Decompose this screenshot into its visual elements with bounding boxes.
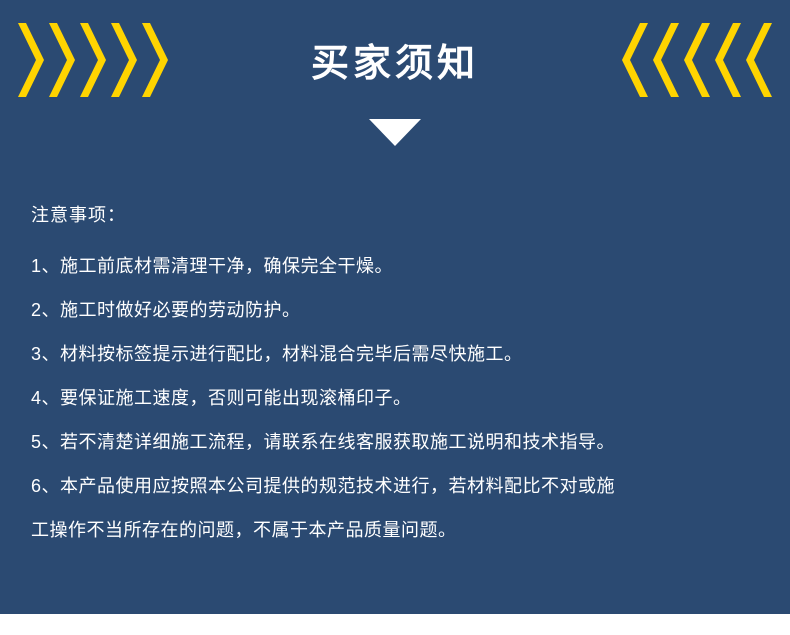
list-item: 2、施工时做好必要的劳动防护。 xyxy=(31,288,761,332)
header-banner: 买家须知 xyxy=(0,0,790,119)
list-item: 1、施工前底材需清理干净，确保完全干燥。 xyxy=(31,244,761,288)
notice-heading: 注意事项： xyxy=(31,201,126,227)
notice-list: 1、施工前底材需清理干净，确保完全干燥。 2、施工时做好必要的劳动防护。 3、材… xyxy=(31,244,761,552)
bottom-strip xyxy=(0,614,790,635)
list-item: 5、若不清楚详细施工流程，请联系在线客服获取施工说明和技术指导。 xyxy=(31,420,761,464)
page-title: 买家须知 xyxy=(0,0,790,119)
buyer-notice-page: 买家须知 注意事项： 1、施工前底材需清理干净，确保完全干燥。 2、施工 xyxy=(0,0,790,635)
list-item: 6、本产品使用应按照本公司提供的规范技术进行，若材料配比不对或施 工操作不当所存… xyxy=(31,464,761,552)
list-item: 4、要保证施工速度，否则可能出现滚桶印子。 xyxy=(31,376,761,420)
panel-notch-icon xyxy=(369,119,421,146)
list-item: 3、材料按标签提示进行配比，材料混合完毕后需尽快施工。 xyxy=(31,332,761,376)
